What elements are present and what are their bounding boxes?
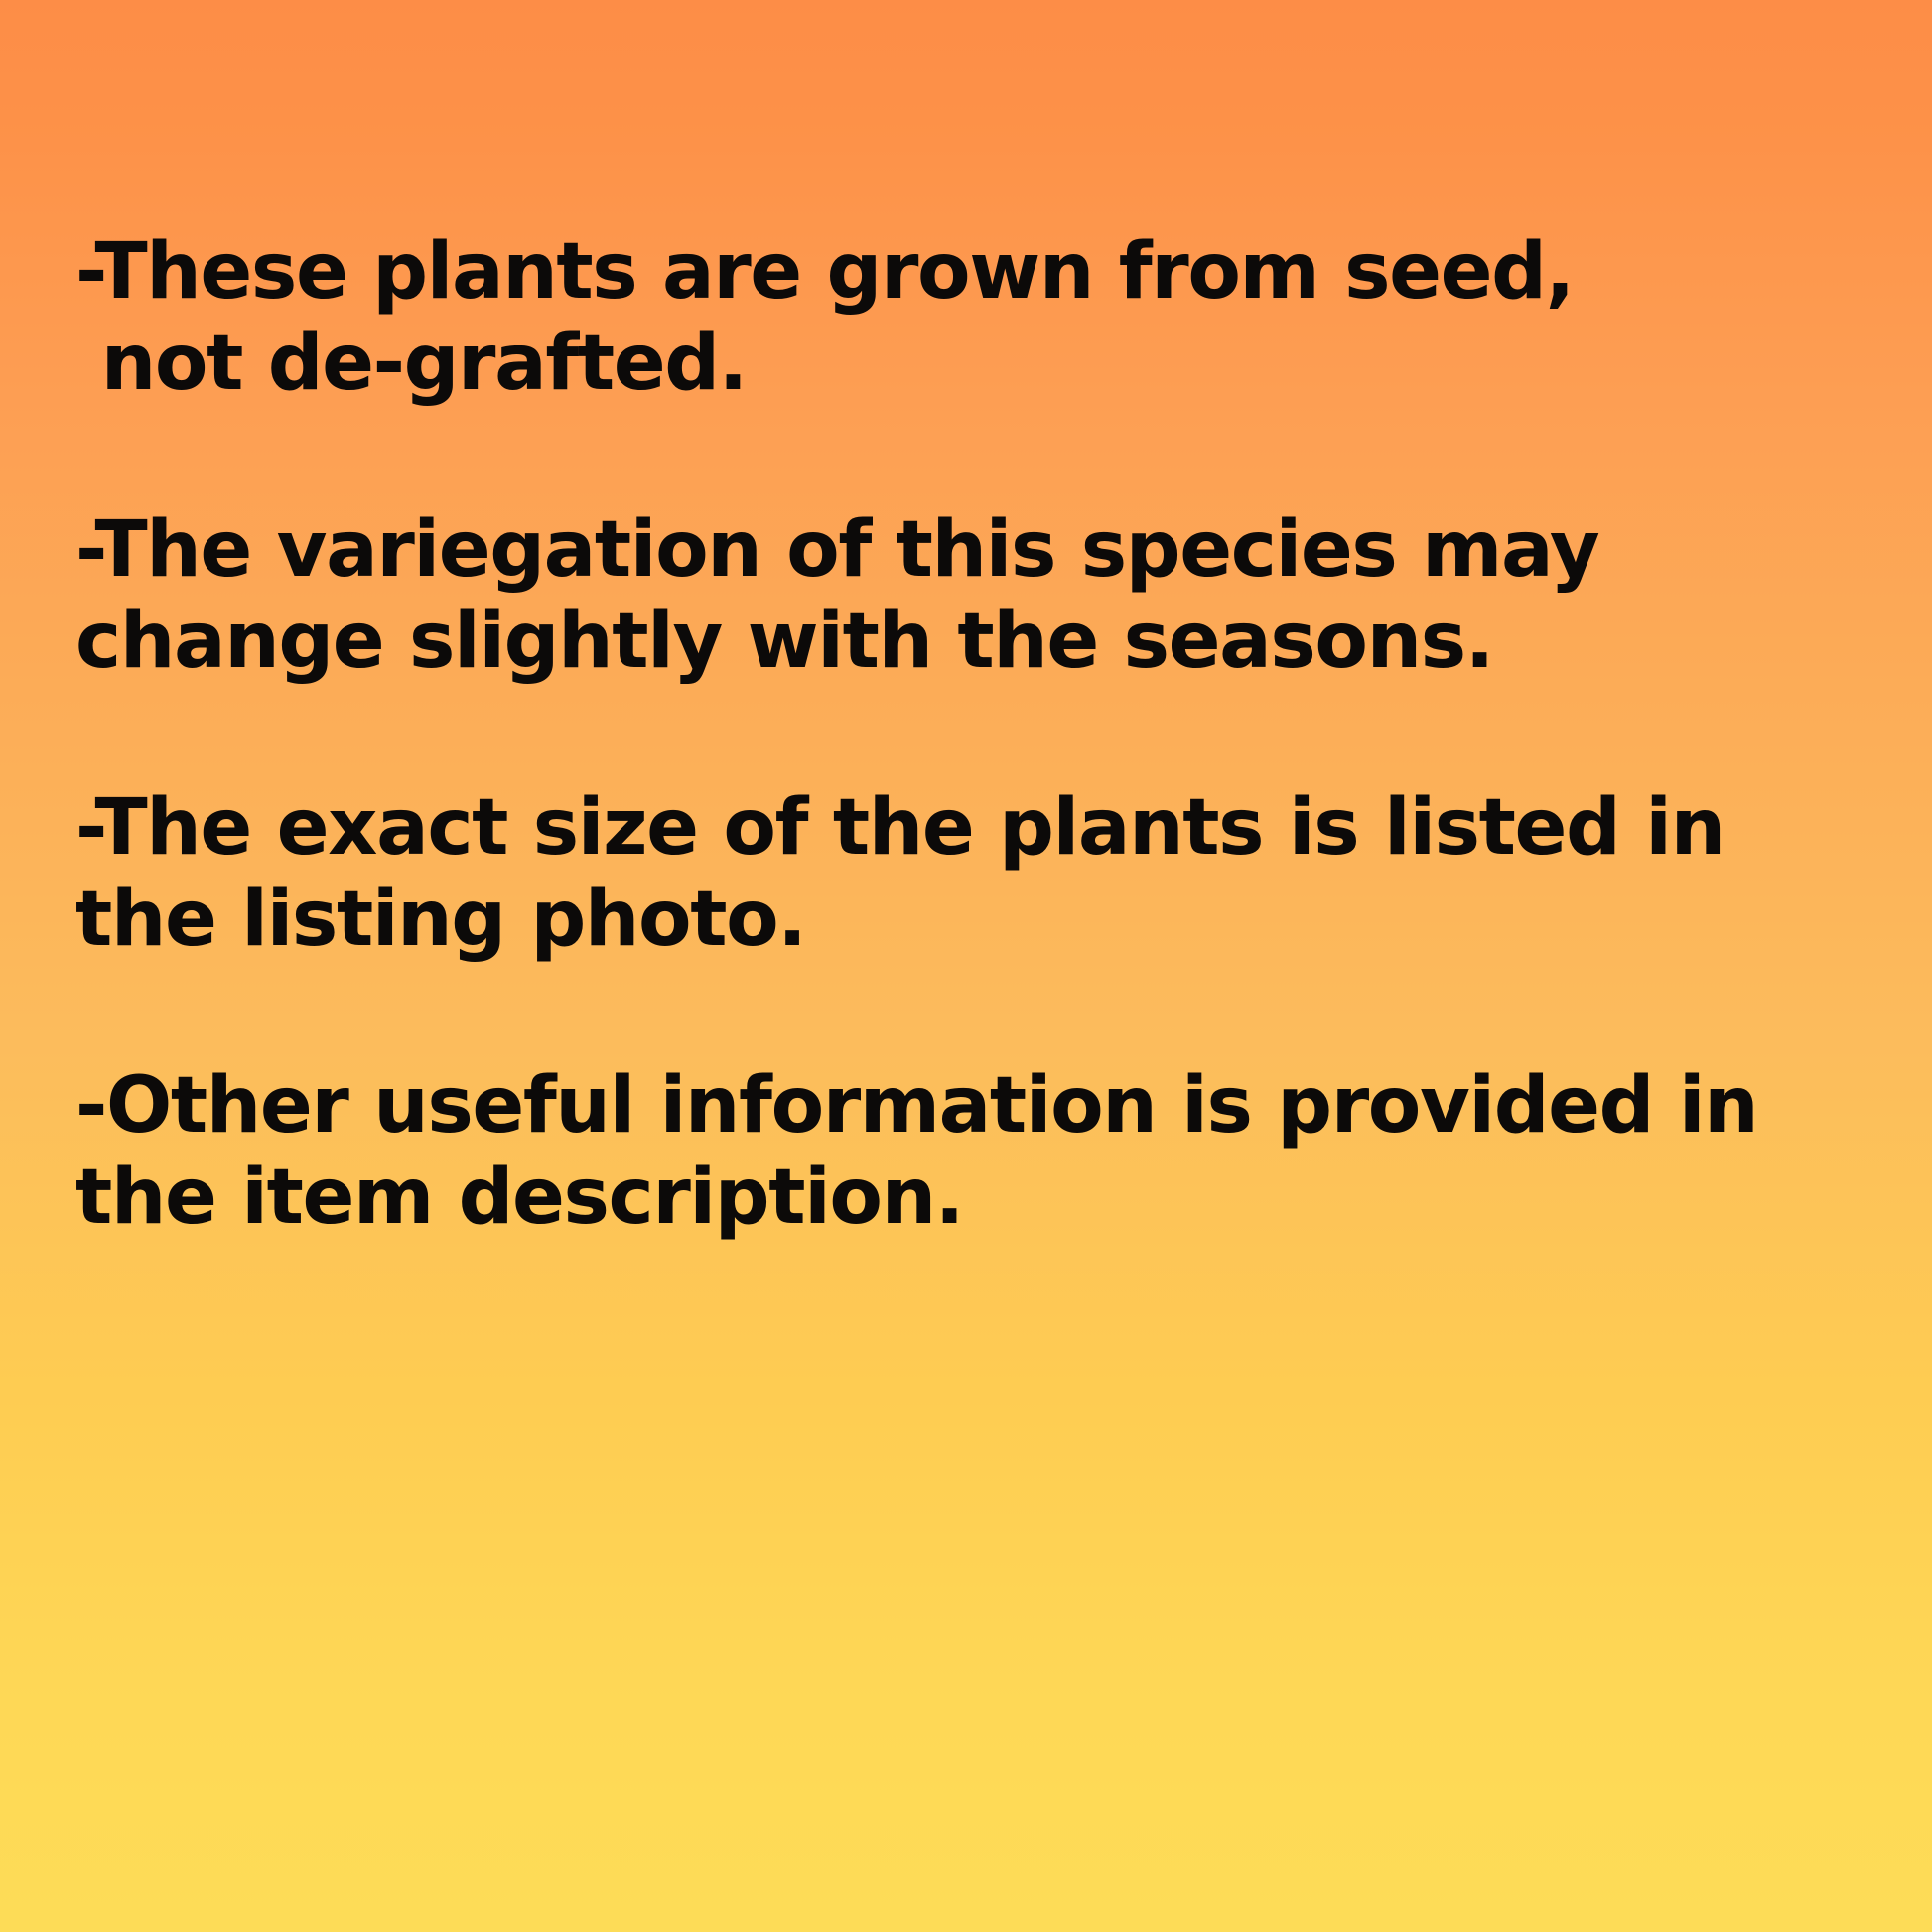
- info-card: -These plants are grown from seed, not d…: [0, 0, 1932, 1932]
- bullet-item-grown-from-seed: -These plants are grown from seed, not d…: [75, 226, 1902, 409]
- bullet-item-exact-size-in-photo: -The exact size of the plants is listed …: [75, 782, 1863, 965]
- bullet-item-other-info-in-description: -Other useful information is provided in…: [75, 1060, 1912, 1243]
- empty-gradient-footer: [0, 1436, 1932, 1932]
- bullet-item-variegation-changes: -The variegation of this species may cha…: [75, 504, 1912, 687]
- bullet-list: -These plants are grown from seed, not d…: [75, 226, 1902, 1243]
